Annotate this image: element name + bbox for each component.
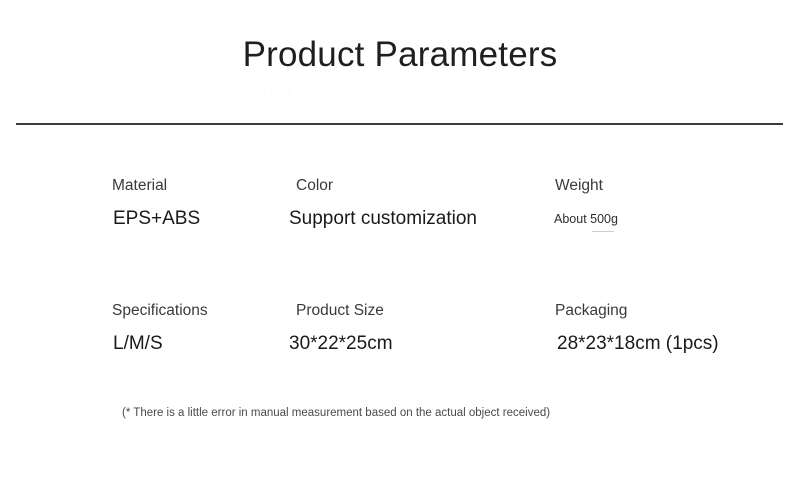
parameter-cell-packaging: Packaging 28*23*18cm (1pcs): [555, 301, 719, 356]
parameter-label: Material: [112, 176, 200, 196]
parameter-cell-color: Color Support customization: [296, 176, 477, 231]
parameter-value: EPS+ABS: [113, 207, 200, 231]
parameter-value: 30*22*25cm: [289, 332, 393, 356]
product-parameters-page: Product Parameters Product Parameters Ma…: [0, 0, 800, 484]
parameter-cell-specifications: Specifications L/M/S: [112, 301, 208, 356]
parameter-label: Product Size: [296, 301, 393, 321]
measurement-disclaimer: (* There is a little error in manual mea…: [122, 405, 550, 421]
parameter-label: Weight: [555, 176, 618, 196]
weight-underline-artifact: [592, 231, 614, 232]
parameter-cell-material: Material EPS+ABS: [112, 176, 200, 231]
parameter-label: Color: [296, 176, 477, 196]
parameter-value: Support customization: [289, 207, 477, 231]
parameter-label: Specifications: [112, 301, 208, 321]
parameter-value: L/M/S: [113, 332, 208, 356]
parameter-label: Packaging: [555, 301, 719, 321]
parameter-value: 28*23*18cm (1pcs): [557, 332, 719, 356]
parameter-value: About 500g: [554, 211, 618, 228]
parameter-cell-weight: Weight About 500g: [555, 176, 618, 228]
parameter-cell-product-size: Product Size 30*22*25cm: [296, 301, 393, 356]
